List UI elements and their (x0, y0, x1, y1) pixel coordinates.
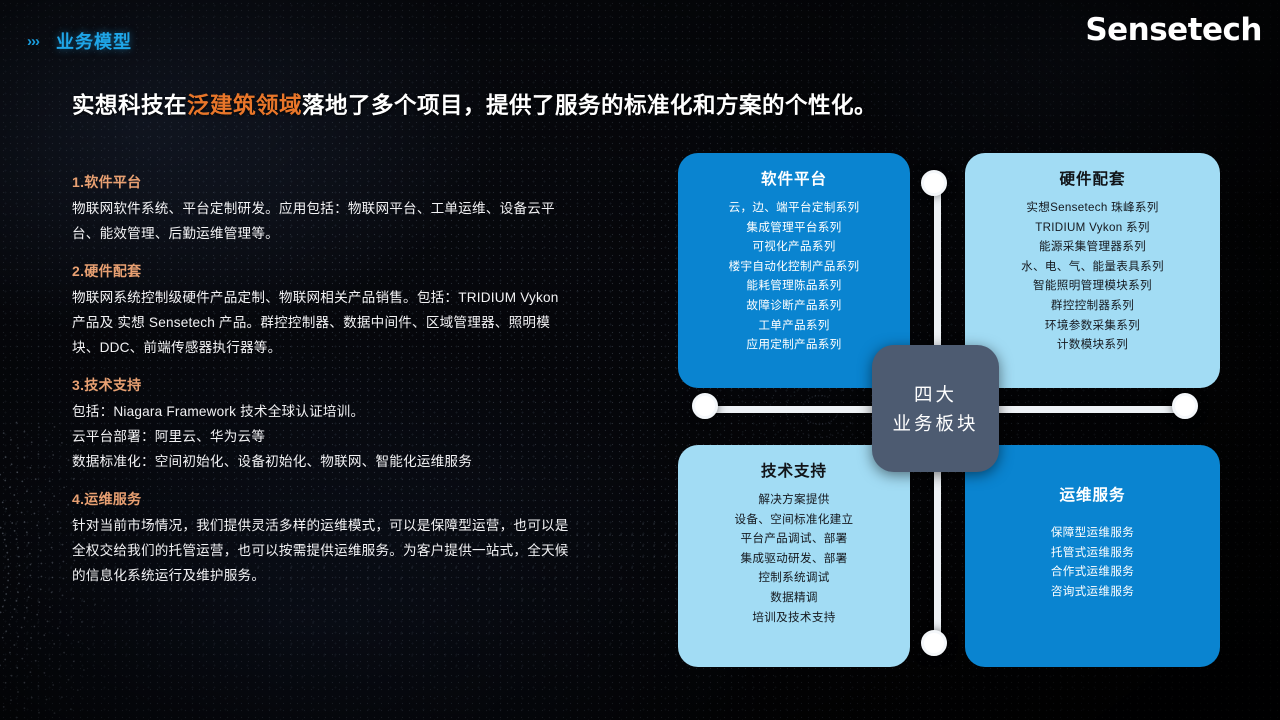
text-block-body: 针对当前市场情况，我们提供灵活多样的运维模式，可以是保障型运营，也可以是全权交给… (72, 513, 572, 588)
connector-vertical-bottom (934, 445, 941, 645)
card-title: 硬件配套 (975, 167, 1210, 189)
list-item: 咨询式运维服务 (975, 582, 1210, 602)
page-title: 实想科技在泛建筑领域落地了多个项目，提供了服务的标准化和方案的个性化。 (72, 88, 877, 120)
text-block-body: 数据标准化：空间初始化、设备初始化、物联网、智能化运维服务 (72, 449, 572, 474)
list-item: 合作式运维服务 (975, 562, 1210, 582)
text-block-body: 云平台部署：阿里云、华为云等 (72, 424, 572, 449)
card-item-list: 云，边、端平台定制系列集成管理平台系列可视化产品系列楼宇自动化控制产品系列能耗管… (688, 198, 900, 355)
list-item: 智能照明管理模块系列 (975, 276, 1210, 296)
text-block-body: 物联网软件系统、平台定制研发。应用包括：物联网平台、工单运维、设备云平台、能效管… (72, 196, 572, 246)
text-block-title: 3.技术支持 (72, 375, 572, 395)
card-item-list: 实想Sensetech 珠峰系列TRIDIUM Vykon 系列能源采集管理器系… (975, 198, 1210, 355)
list-item: 控制系统调试 (688, 568, 900, 588)
connector-node-top (921, 170, 947, 196)
list-item: 数据精调 (688, 588, 900, 608)
list-item: 设备、空间标准化建立 (688, 510, 900, 530)
list-item: 培训及技术支持 (688, 608, 900, 628)
text-block-title: 2.硬件配套 (72, 261, 572, 281)
list-item: 云，边、端平台定制系列 (688, 198, 900, 218)
hub-line-1: 四大 (914, 380, 957, 409)
card-item-list: 保障型运维服务托管式运维服务合作式运维服务咨询式运维服务 (975, 523, 1210, 601)
list-item: 可视化产品系列 (688, 237, 900, 257)
connector-node-left (692, 393, 718, 419)
card-software-platform[interactable]: 软件平台 云，边、端平台定制系列集成管理平台系列可视化产品系列楼宇自动化控制产品… (678, 153, 910, 388)
list-item: 平台产品调试、部署 (688, 529, 900, 549)
list-item: 故障诊断产品系列 (688, 296, 900, 316)
list-item: 保障型运维服务 (975, 523, 1210, 543)
connector-node-bottom (921, 630, 947, 656)
text-block-body: 物联网系统控制级硬件产品定制、物联网相关产品销售。包括：TRIDIUM Vyko… (72, 285, 572, 360)
list-item: 实想Sensetech 珠峰系列 (975, 198, 1210, 218)
card-title: 技术支持 (688, 459, 900, 481)
card-title: 运维服务 (975, 483, 1210, 505)
slide-header: ››› 业务模型 Sensetech (0, 0, 1280, 68)
card-operation-maintenance[interactable]: 运维服务 保障型运维服务托管式运维服务合作式运维服务咨询式运维服务 (965, 445, 1220, 667)
hub-line-2: 业务板块 (892, 409, 978, 438)
connector-vertical-top (934, 173, 941, 373)
text-block: 1.软件平台物联网软件系统、平台定制研发。应用包括：物联网平台、工单运维、设备云… (72, 172, 572, 246)
text-block-body: 包括：Niagara Framework 技术全球认证培训。 (72, 399, 572, 424)
list-item: 楼宇自动化控制产品系列 (688, 257, 900, 277)
left-text-column: 1.软件平台物联网软件系统、平台定制研发。应用包括：物联网平台、工单运维、设备云… (72, 172, 572, 603)
text-block-title: 4.运维服务 (72, 489, 572, 509)
triple-chevron-right-icon: ››› (27, 33, 39, 50)
brand-logo: Sensetech (1085, 12, 1262, 48)
list-item: 托管式运维服务 (975, 543, 1210, 563)
card-technical-support[interactable]: 技术支持 解决方案提供设备、空间标准化建立平台产品调试、部署集成驱动研发、部署控… (678, 445, 910, 667)
list-item: 水、电、气、能量表具系列 (975, 257, 1210, 277)
list-item: TRIDIUM Vykon 系列 (975, 218, 1210, 238)
list-item: 环境参数采集系列 (975, 316, 1210, 336)
list-item: 集成管理平台系列 (688, 218, 900, 238)
card-hardware-kit[interactable]: 硬件配套 实想Sensetech 珠峰系列TRIDIUM Vykon 系列能源采… (965, 153, 1220, 388)
list-item: 工单产品系列 (688, 316, 900, 336)
text-block-title: 1.软件平台 (72, 172, 572, 192)
list-item: 能源采集管理器系列 (975, 237, 1210, 257)
list-item: 集成驱动研发、部署 (688, 549, 900, 569)
headline-part-1: 实想科技在 (72, 93, 187, 118)
headline-part-2: 落地了多个项目，提供了服务的标准化和方案的个性化。 (302, 93, 877, 118)
four-business-segments-diagram: 软件平台 云，边、端平台定制系列集成管理平台系列可视化产品系列楼宇自动化控制产品… (660, 145, 1240, 675)
connector-node-right (1172, 393, 1198, 419)
list-item: 解决方案提供 (688, 490, 900, 510)
text-block: 3.技术支持包括：Niagara Framework 技术全球认证培训。云平台部… (72, 375, 572, 474)
list-item: 能耗管理陈品系列 (688, 276, 900, 296)
list-item: 计数模块系列 (975, 335, 1210, 355)
list-item: 群控控制器系列 (975, 296, 1210, 316)
list-item: 应用定制产品系列 (688, 335, 900, 355)
text-block: 2.硬件配套物联网系统控制级硬件产品定制、物联网相关产品销售。包括：TRIDIU… (72, 261, 572, 360)
section-kicker: 业务模型 (56, 28, 132, 54)
card-title: 软件平台 (688, 167, 900, 189)
diagram-center-hub: 四大 业务板块 (872, 345, 999, 472)
headline-highlight: 泛建筑领域 (187, 93, 302, 118)
card-item-list: 解决方案提供设备、空间标准化建立平台产品调试、部署集成驱动研发、部署控制系统调试… (688, 490, 900, 627)
slide-canvas: ››› 业务模型 Sensetech 实想科技在泛建筑领域落地了多个项目，提供了… (0, 0, 1280, 720)
text-block: 4.运维服务针对当前市场情况，我们提供灵活多样的运维模式，可以是保障型运营，也可… (72, 489, 572, 588)
